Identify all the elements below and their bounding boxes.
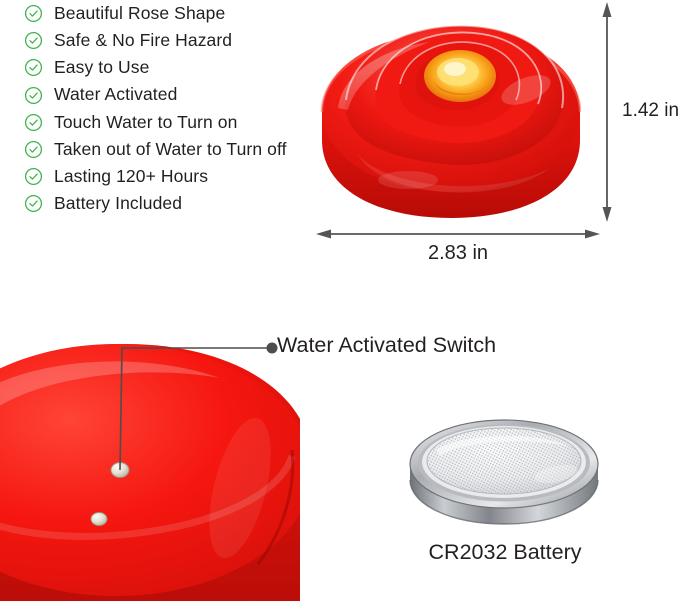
list-item: Taken out of Water to Turn off — [24, 136, 314, 163]
check-circle-icon — [24, 113, 43, 132]
list-item: Easy to Use — [24, 54, 314, 81]
check-circle-icon — [24, 140, 43, 159]
feature-label: Water Activated — [54, 86, 177, 104]
check-circle-icon — [24, 31, 43, 50]
water-sensor-pin-lower — [91, 513, 107, 526]
check-circle-icon — [24, 4, 43, 23]
product-image-candle-base — [0, 338, 300, 601]
callout-label-water-activated-switch: Water Activated Switch — [277, 333, 496, 358]
dimension-label-height: 1.42 in — [622, 100, 679, 122]
check-circle-icon — [24, 167, 43, 186]
check-circle-icon — [24, 58, 43, 77]
list-item: Water Activated — [24, 82, 314, 109]
feature-label: Easy to Use — [54, 59, 149, 77]
feature-label: Taken out of Water to Turn off — [54, 141, 287, 159]
feature-label: Safe & No Fire Hazard — [54, 32, 232, 50]
list-item: Beautiful Rose Shape — [24, 0, 314, 27]
water-sensor-pin-upper — [111, 463, 129, 478]
product-image-rose-candle — [312, 4, 590, 226]
list-item: Safe & No Fire Hazard — [24, 27, 314, 54]
feature-label: Lasting 120+ Hours — [54, 168, 208, 186]
feature-label: Battery Included — [54, 195, 182, 213]
list-item: Touch Water to Turn on — [24, 109, 314, 136]
dimension-arrow-width — [314, 224, 602, 244]
product-infographic: Beautiful Rose Shape Safe & No Fire Haza… — [0, 0, 679, 601]
feature-label: Touch Water to Turn on — [54, 114, 237, 132]
list-item: Battery Included — [24, 190, 314, 217]
list-item: Lasting 120+ Hours — [24, 163, 314, 190]
feature-list: Beautiful Rose Shape Safe & No Fire Haza… — [24, 0, 314, 218]
battery-label: CR2032 Battery — [390, 540, 620, 565]
check-circle-icon — [24, 194, 43, 213]
dimension-label-width: 2.83 in — [314, 242, 602, 265]
check-circle-icon — [24, 86, 43, 105]
product-image-cr2032-battery — [406, 414, 602, 530]
feature-label: Beautiful Rose Shape — [54, 5, 225, 23]
dimension-arrow-height — [592, 0, 626, 225]
